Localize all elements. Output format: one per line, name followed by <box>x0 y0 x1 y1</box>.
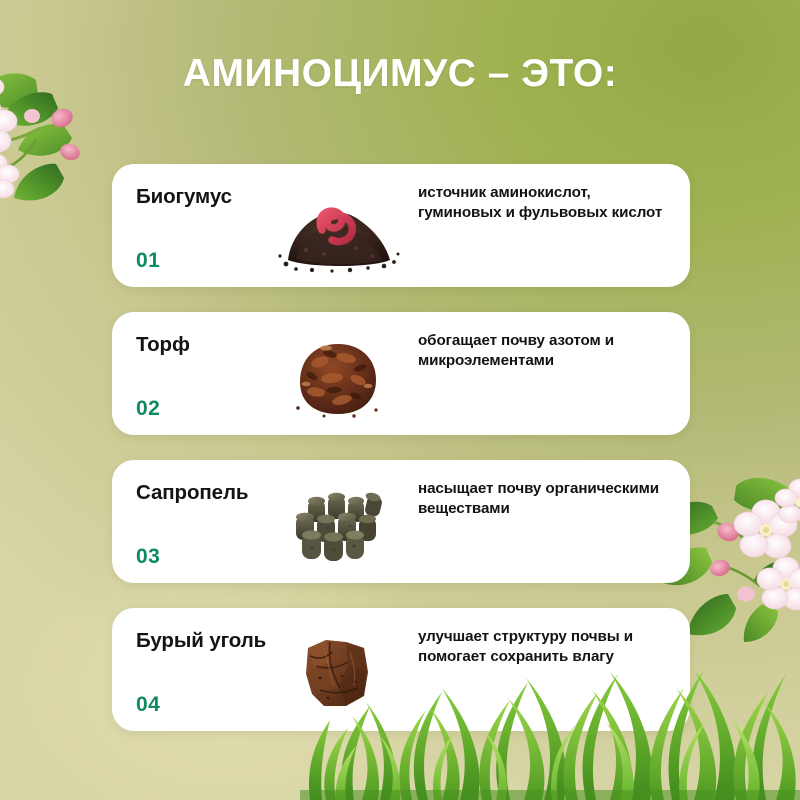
card-number: 04 <box>136 693 160 717</box>
feature-card[interactable]: Биогумус 01 <box>112 164 690 287</box>
feature-card-list: Биогумус 01 <box>112 164 690 756</box>
poster-canvas: АМИНОЦИМУС – ЭТО: <box>0 0 800 800</box>
brown-coal-lump-image <box>272 618 404 722</box>
card-title: Сапропель <box>136 481 248 505</box>
card-description: улучшает структуру почвы и помогает сохр… <box>418 627 668 666</box>
card-description: источник аминокислот, гуминовых и фульво… <box>418 183 668 222</box>
feature-card[interactable]: Торф 02 <box>112 312 690 435</box>
page-title: АМИНОЦИМУС – ЭТО: <box>0 52 800 96</box>
card-title: Биогумус <box>136 185 232 209</box>
biohumus-soil-with-worm-image <box>272 174 404 278</box>
feature-card[interactable]: Сапропель 03 <box>112 460 690 583</box>
card-number: 03 <box>136 545 160 569</box>
card-description: обогащает почву азотом и микроэлементами <box>418 331 668 370</box>
peat-pile-image <box>272 322 404 426</box>
sapropel-pellets-image <box>272 470 404 574</box>
card-title: Бурый уголь <box>136 629 266 653</box>
card-number: 01 <box>136 249 160 273</box>
card-number: 02 <box>136 397 160 421</box>
feature-card[interactable]: Бурый уголь 04 <box>112 608 690 731</box>
card-description: насыщает почву органическими веществами <box>418 479 668 518</box>
card-title: Торф <box>136 333 190 357</box>
